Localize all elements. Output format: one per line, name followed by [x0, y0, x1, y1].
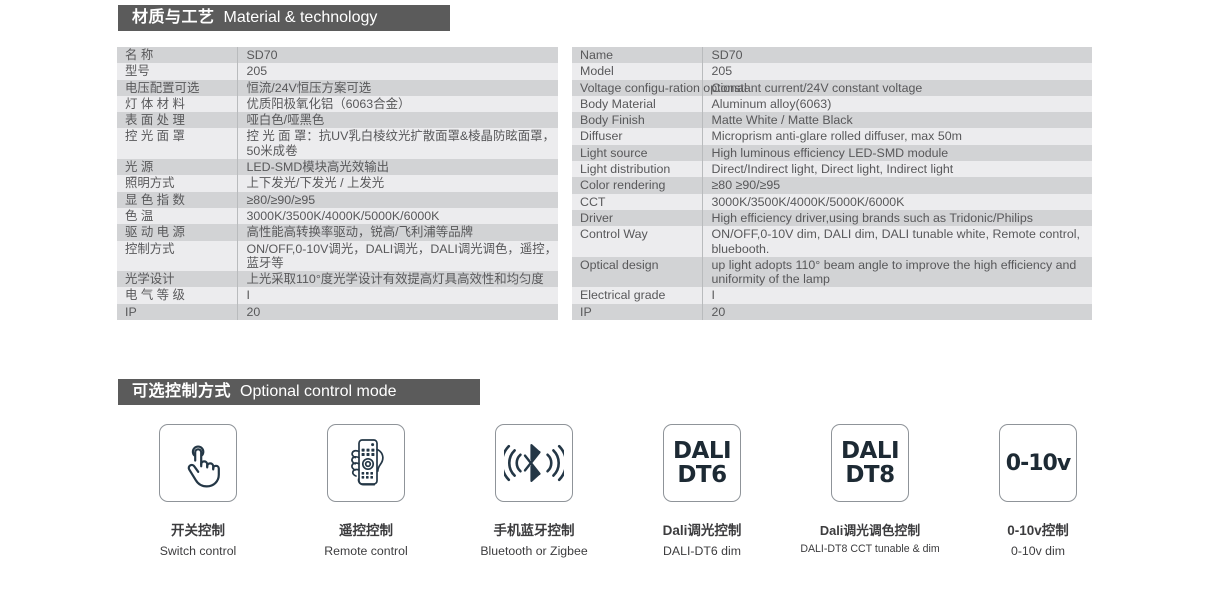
- spec-value: LED-SMD模块高光效输出: [237, 159, 558, 175]
- section-banner-control-mode: 可选控制方式 Optional control mode: [118, 379, 480, 405]
- spec-value: 恒流/24V恒压方案可选: [237, 80, 558, 96]
- table-row: 电压配置可选恒流/24V恒压方案可选: [117, 80, 558, 96]
- table-row: 色 温3000K/3500K/4000K/5000K/6000K: [117, 208, 558, 224]
- spec-value: up light adopts 110° beam angle to impro…: [702, 257, 1092, 288]
- spec-key: 型号: [117, 63, 237, 79]
- remote-in-hand-icon: [338, 435, 394, 491]
- spec-key: 名 称: [117, 47, 237, 63]
- spec-value: 3000K/3500K/4000K/5000K/6000K: [237, 208, 558, 224]
- table-row: Electrical gradeI: [572, 287, 1092, 303]
- table-row: 灯 体 材 料优质阳极氧化铝（6063合金）: [117, 96, 558, 112]
- spec-key: Control Way: [572, 226, 702, 257]
- spec-key: Body Material: [572, 96, 702, 112]
- control-mode-box-text-line2: DT6: [673, 463, 731, 487]
- spec-key: IP: [117, 304, 237, 320]
- spec-key: 照明方式: [117, 175, 237, 191]
- control-mode-item[interactable]: 开关控制Switch control: [118, 424, 278, 559]
- dali-dt6-text-icon: DALIDT6: [673, 439, 731, 488]
- zero-to-ten-volt-text-icon: 0-10v: [1006, 451, 1070, 476]
- spec-key: Model: [572, 63, 702, 79]
- spec-value: 上下发光/下发光 / 上发光: [237, 175, 558, 191]
- spec-value: 高性能高转换率驱动，锐高/飞利浦等品牌: [237, 224, 558, 240]
- spec-key: Light source: [572, 145, 702, 161]
- section-banner-control-title-en: Optional control mode: [240, 384, 397, 400]
- table-row: CCT3000K/3500K/4000K/5000K/6000K: [572, 194, 1092, 210]
- spec-key: Color rendering: [572, 177, 702, 193]
- bluetooth-wireless-icon: [504, 441, 564, 485]
- table-row: Light sourceHigh luminous efficiency LED…: [572, 145, 1092, 161]
- table-row: Light distributionDirect/Indirect light,…: [572, 161, 1092, 177]
- spec-key: 控制方式: [117, 241, 237, 272]
- spec-key: 驱 动 电 源: [117, 224, 237, 240]
- spec-value: Direct/Indirect light, Direct light, Ind…: [702, 161, 1092, 177]
- dali-dt8-text-icon: DALIDT8: [841, 439, 899, 488]
- spec-value: 205: [237, 63, 558, 79]
- table-row: IP20: [572, 304, 1092, 320]
- control-mode-label-cn: 手机蓝牙控制: [494, 523, 575, 539]
- control-mode-list: 开关控制Switch control遥控控制Remote control手机蓝牙…: [118, 424, 1118, 559]
- spec-value: Aluminum alloy(6063): [702, 96, 1092, 112]
- section-banner-material-title-cn: 材质与工艺: [132, 10, 215, 26]
- control-mode-box-text-line2: DT8: [841, 463, 899, 487]
- control-mode-label-en: DALI-DT8 CCT tunable & dim: [800, 543, 939, 556]
- product-spec-page: 材质与工艺 Material & technology 名 称SD70型号205…: [0, 0, 1214, 589]
- spec-key: Electrical grade: [572, 287, 702, 303]
- spec-value: Constant current/24V constant voltage: [702, 80, 1092, 96]
- spec-table-chinese-body: 名 称SD70型号205电压配置可选恒流/24V恒压方案可选灯 体 材 料优质阳…: [117, 47, 558, 320]
- spec-value: I: [702, 287, 1092, 303]
- spec-value: ≥80 ≥90/≥95: [702, 177, 1092, 193]
- spec-value: High luminous efficiency LED-SMD module: [702, 145, 1092, 161]
- spec-key: CCT: [572, 194, 702, 210]
- table-row: Body FinishMatte White / Matte Black: [572, 112, 1092, 128]
- control-mode-label-cn: Dali调光控制: [663, 523, 742, 539]
- spec-key: Diffuser: [572, 128, 702, 144]
- spec-key: 电 气 等 级: [117, 287, 237, 303]
- control-mode-label-cn: Dali调光调色控制: [820, 523, 920, 538]
- table-row: Control WayON/OFF,0-10V dim, DALI dim, D…: [572, 226, 1092, 257]
- control-mode-label-en: Remote control: [324, 544, 407, 559]
- control-mode-label-en: 0-10v dim: [1011, 544, 1065, 559]
- hand-tap-icon: [171, 436, 225, 490]
- spec-value: 20: [702, 304, 1092, 320]
- control-mode-item[interactable]: 0-10v0-10v控制0-10v dim: [958, 424, 1118, 559]
- control-mode-label-en: Switch control: [160, 544, 237, 559]
- table-row: 照明方式上下发光/下发光 / 上发光: [117, 175, 558, 191]
- spec-table-english-body: NameSD70Model205Voltage configu-ration o…: [572, 47, 1092, 320]
- control-mode-icon-box[interactable]: [327, 424, 405, 502]
- table-row: 显 色 指 数≥80/≥90/≥95: [117, 192, 558, 208]
- control-mode-label-en: DALI-DT6 dim: [663, 544, 741, 559]
- control-mode-box-text-line1: DALI: [841, 439, 899, 463]
- spec-value: 上光采取110°度光学设计有效提高灯具高效性和均匀度: [237, 271, 558, 287]
- table-row: Color rendering≥80 ≥90/≥95: [572, 177, 1092, 193]
- table-row: 光学设计上光采取110°度光学设计有效提高灯具高效性和均匀度: [117, 271, 558, 287]
- control-mode-item[interactable]: DALIDT8Dali调光调色控制DALI-DT8 CCT tunable & …: [790, 424, 950, 556]
- spec-value: 优质阳极氧化铝（6063合金）: [237, 96, 558, 112]
- table-row: 驱 动 电 源高性能高转换率驱动，锐高/飞利浦等品牌: [117, 224, 558, 240]
- table-row: IP20: [117, 304, 558, 320]
- spec-value: Matte White / Matte Black: [702, 112, 1092, 128]
- section-banner-material: 材质与工艺 Material & technology: [118, 5, 450, 31]
- table-row: 光 源LED-SMD模块高光效输出: [117, 159, 558, 175]
- spec-key: Driver: [572, 210, 702, 226]
- control-mode-icon-box[interactable]: DALIDT6: [663, 424, 741, 502]
- control-mode-icon-box[interactable]: DALIDT8: [831, 424, 909, 502]
- spec-key: 显 色 指 数: [117, 192, 237, 208]
- table-row: 名 称SD70: [117, 47, 558, 63]
- table-row: DriverHigh efficiency driver,using brand…: [572, 210, 1092, 226]
- spec-key: Voltage configu-ration optional: [572, 80, 702, 96]
- spec-value: SD70: [237, 47, 558, 63]
- spec-value: ≥80/≥90/≥95: [237, 192, 558, 208]
- control-mode-label-cn: 开关控制: [171, 523, 225, 539]
- control-mode-item[interactable]: DALIDT6Dali调光控制DALI-DT6 dim: [622, 424, 782, 559]
- spec-value: 控 光 面 罩：抗UV乳白棱纹光扩散面罩&棱晶防眩面罩，50米成卷: [237, 128, 558, 159]
- control-mode-box-text-line1: DALI: [673, 439, 731, 463]
- spec-value: SD70: [702, 47, 1092, 63]
- spec-value: 哑白色/哑黑色: [237, 112, 558, 128]
- spec-key: Body Finish: [572, 112, 702, 128]
- spec-value: ON/OFF,0-10V调光，DALI调光，DALI调光调色，遥控，蓝牙等: [237, 241, 558, 272]
- table-row: 表 面 处 理哑白色/哑黑色: [117, 112, 558, 128]
- spec-key: 光 源: [117, 159, 237, 175]
- table-row: NameSD70: [572, 47, 1092, 63]
- control-mode-icon-box[interactable]: [159, 424, 237, 502]
- table-row: Voltage configu-ration optionalConstant …: [572, 80, 1092, 96]
- spec-key: 电压配置可选: [117, 80, 237, 96]
- section-banner-control-title-cn: 可选控制方式: [132, 384, 231, 400]
- control-mode-label-cn: 0-10v控制: [1007, 523, 1069, 539]
- control-mode-icon-box[interactable]: 0-10v: [999, 424, 1077, 502]
- spec-table-chinese: 名 称SD70型号205电压配置可选恒流/24V恒压方案可选灯 体 材 料优质阳…: [117, 47, 558, 320]
- table-row: 控制方式ON/OFF,0-10V调光，DALI调光，DALI调光调色，遥控，蓝牙…: [117, 241, 558, 272]
- spec-key: Name: [572, 47, 702, 63]
- spec-value: 205: [702, 63, 1092, 79]
- spec-value: Microprism anti-glare rolled diffuser, m…: [702, 128, 1092, 144]
- control-mode-item[interactable]: 手机蓝牙控制Bluetooth or Zigbee: [454, 424, 614, 559]
- table-row: 控 光 面 罩控 光 面 罩：抗UV乳白棱纹光扩散面罩&棱晶防眩面罩，50米成卷: [117, 128, 558, 159]
- spec-key: 表 面 处 理: [117, 112, 237, 128]
- table-row: Optical designup light adopts 110° beam …: [572, 257, 1092, 288]
- spec-value: 3000K/3500K/4000K/5000K/6000K: [702, 194, 1092, 210]
- spec-key: 光学设计: [117, 271, 237, 287]
- table-row: 电 气 等 级I: [117, 287, 558, 303]
- spec-key: 控 光 面 罩: [117, 128, 237, 159]
- control-mode-icon-box[interactable]: [495, 424, 573, 502]
- spec-value: 20: [237, 304, 558, 320]
- spec-key: Light distribution: [572, 161, 702, 177]
- table-row: Body MaterialAluminum alloy(6063): [572, 96, 1092, 112]
- control-mode-label-cn: 遥控控制: [339, 523, 393, 539]
- spec-key: 灯 体 材 料: [117, 96, 237, 112]
- table-row: DiffuserMicroprism anti-glare rolled dif…: [572, 128, 1092, 144]
- table-row: Model205: [572, 63, 1092, 79]
- control-mode-label-en: Bluetooth or Zigbee: [480, 544, 587, 559]
- spec-value: High efficiency driver,using brands such…: [702, 210, 1092, 226]
- control-mode-item[interactable]: 遥控控制Remote control: [286, 424, 446, 559]
- section-banner-material-title-en: Material & technology: [224, 10, 378, 26]
- spec-value: ON/OFF,0-10V dim, DALI dim, DALI tunable…: [702, 226, 1092, 257]
- spec-table-english: NameSD70Model205Voltage configu-ration o…: [572, 47, 1092, 320]
- spec-value: I: [237, 287, 558, 303]
- spec-key: Optical design: [572, 257, 702, 288]
- table-row: 型号205: [117, 63, 558, 79]
- spec-key: 色 温: [117, 208, 237, 224]
- spec-key: IP: [572, 304, 702, 320]
